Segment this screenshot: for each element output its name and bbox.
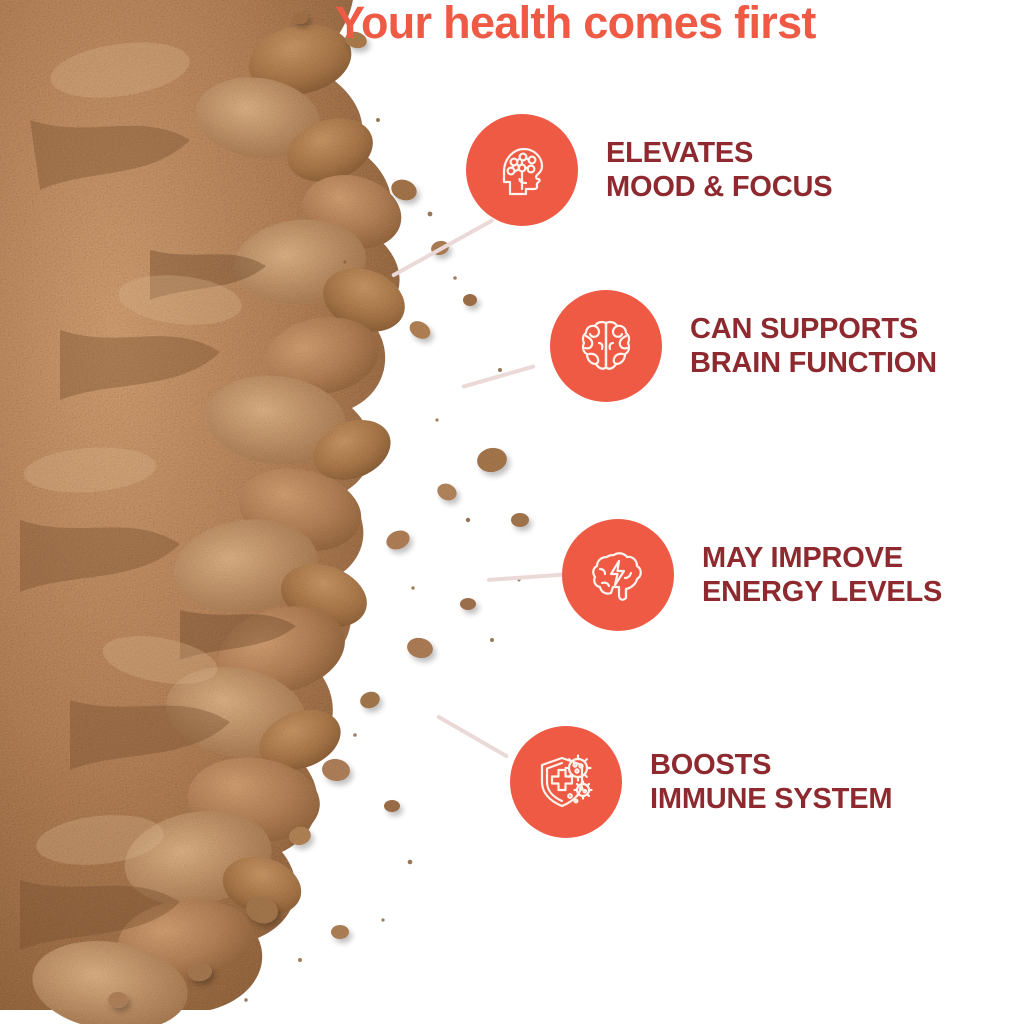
page-title: Your health comes first — [335, 0, 1020, 50]
benefit-label-4: BOOSTS IMMUNE SYSTEM — [650, 748, 892, 816]
benefit-item-elevates-mood-focus[interactable]: ELEVATES MOOD & FOCUS — [466, 114, 832, 226]
shield-cross-germ-icon — [534, 750, 598, 814]
benefit-label-3: MAY IMPROVE ENERGY LEVELS — [702, 541, 942, 609]
connector-line-2 — [461, 364, 535, 389]
head-neural-network-icon — [490, 138, 554, 202]
benefit-item-supports-brain-function[interactable]: CAN SUPPORTS BRAIN FUNCTION — [550, 290, 937, 402]
connector-line-3 — [487, 572, 569, 582]
benefit-badge-1 — [466, 114, 578, 226]
brain-top-view-icon — [574, 314, 638, 378]
benefit-label-1: ELEVATES MOOD & FOCUS — [606, 136, 832, 204]
benefit-badge-4 — [510, 726, 622, 838]
infographic-canvas: Your health comes first ELEVATES MOOD & … — [0, 0, 1020, 1024]
benefit-item-improve-energy-levels[interactable]: MAY IMPROVE ENERGY LEVELS — [562, 519, 942, 631]
brain-lightning-bolt-icon — [586, 543, 650, 607]
benefit-label-2: CAN SUPPORTS BRAIN FUNCTION — [690, 312, 937, 380]
benefit-item-boosts-immune-system[interactable]: BOOSTS IMMUNE SYSTEM — [510, 726, 892, 838]
benefit-badge-3 — [562, 519, 674, 631]
benefit-badge-2 — [550, 290, 662, 402]
connector-line-4 — [436, 714, 509, 758]
connector-line-1 — [391, 218, 494, 278]
